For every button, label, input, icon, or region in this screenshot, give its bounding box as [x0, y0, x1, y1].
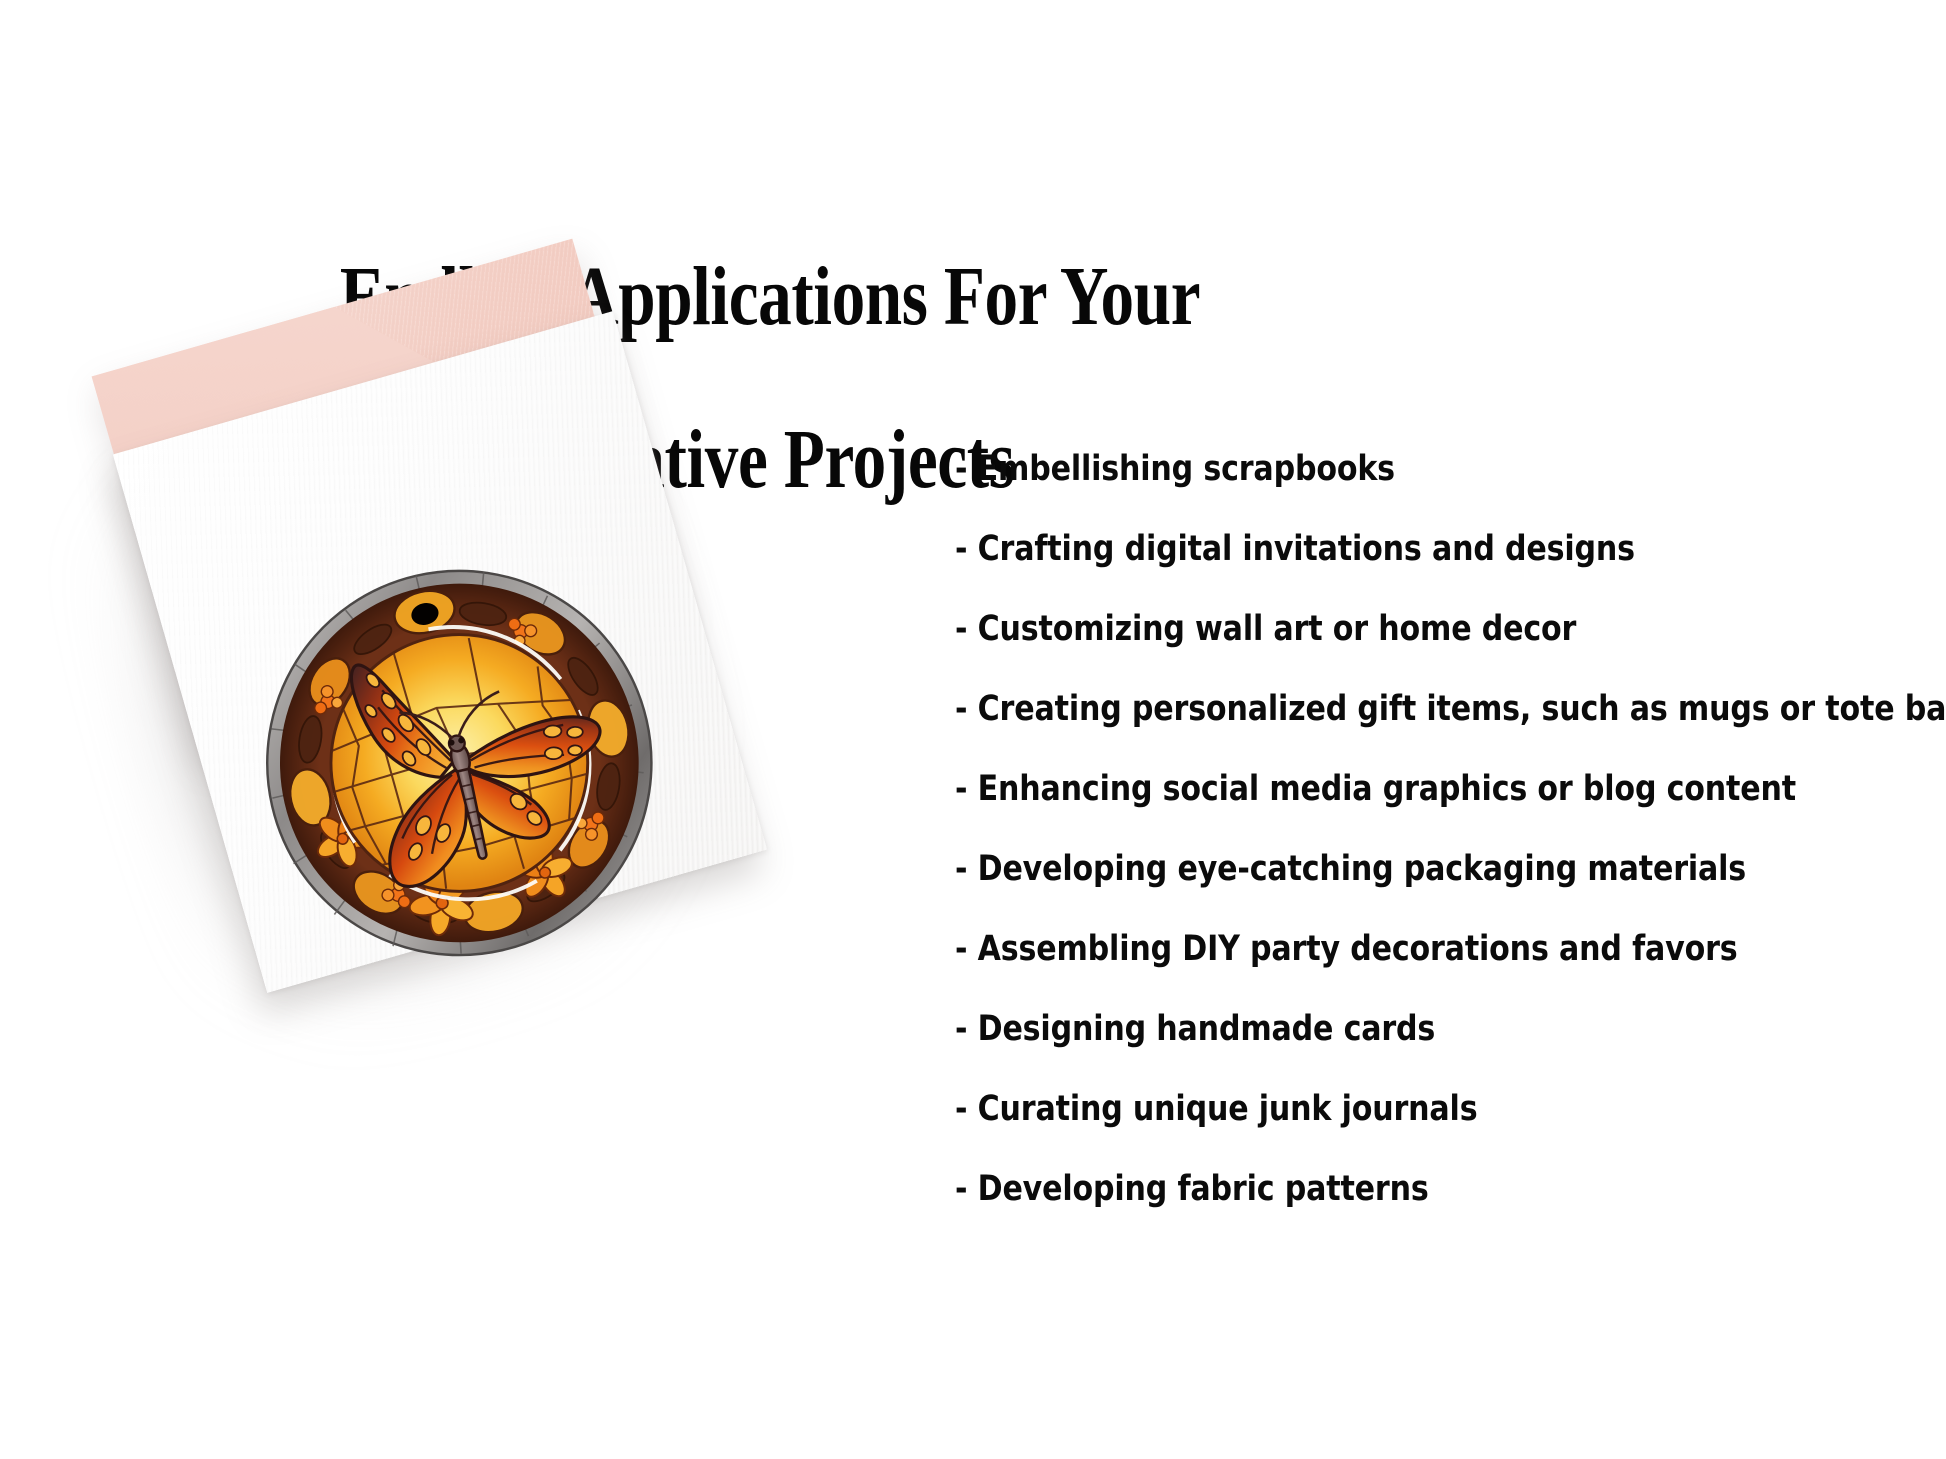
list-item: - Designing handmade cards [955, 1012, 1798, 1047]
list-item: - Embellishing scrapbooks [955, 452, 1798, 487]
list-item: - Creating personalized gift items, such… [955, 692, 1798, 727]
applications-list: - Embellishing scrapbooks - Crafting dig… [955, 452, 1935, 1207]
list-item: - Crafting digital invitations and desig… [955, 532, 1798, 567]
list-item: - Assembling DIY party decorations and f… [955, 932, 1798, 967]
list-item: - Enhancing social media graphics or blo… [955, 772, 1798, 807]
list-item: - Developing fabric patterns [955, 1172, 1798, 1207]
list-item: - Developing eye-catching packaging mate… [955, 852, 1798, 887]
product-mockup-photo [40, 250, 780, 1080]
list-item: - Curating unique junk journals [955, 1092, 1798, 1127]
poster-canvas: Endless Applications For Your Creative P… [0, 0, 1946, 1459]
list-item: - Customizing wall art or home decor [955, 612, 1798, 647]
